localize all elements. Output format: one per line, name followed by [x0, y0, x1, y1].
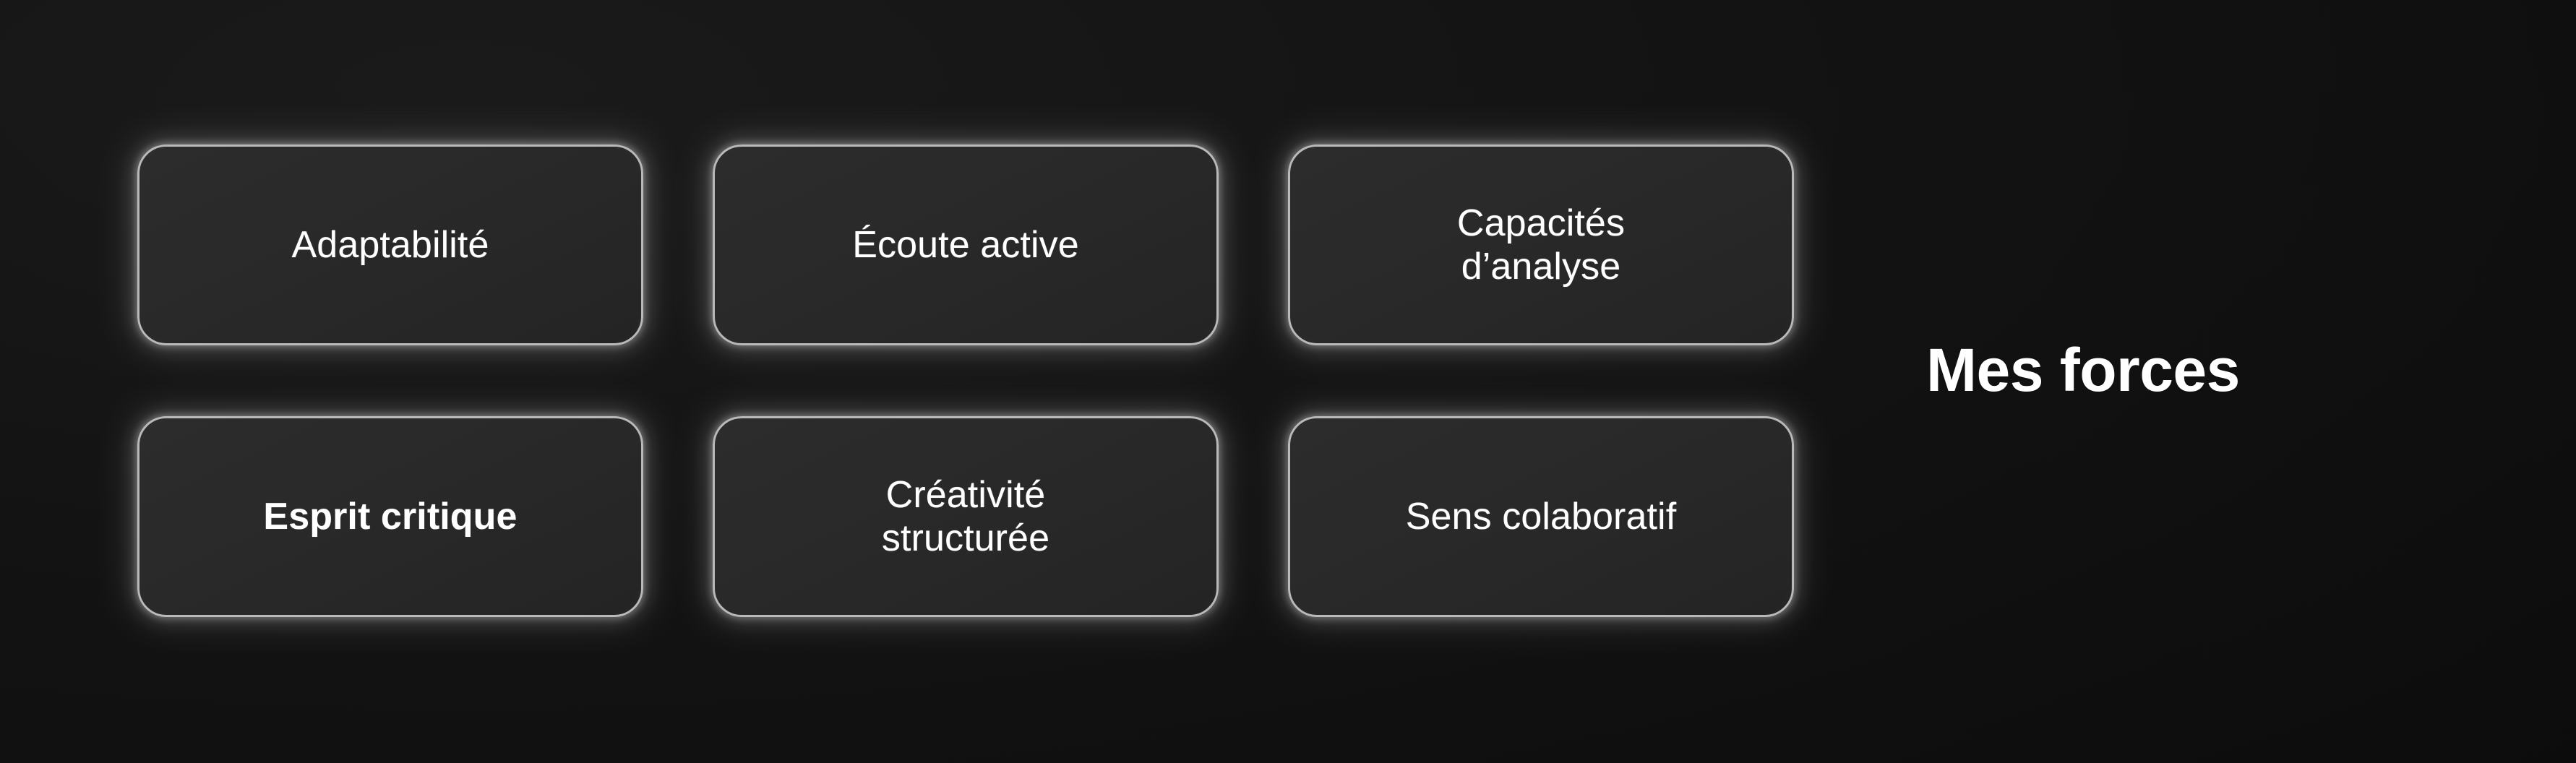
strength-card-label: Créativité structurée [864, 473, 1067, 561]
strength-card-label: Esprit critique [246, 495, 534, 538]
strengths-card-grid: Adaptabilité Écoute active Capacités d’a… [137, 145, 1794, 617]
strength-card-label: Capacités d’analyse [1440, 202, 1642, 289]
strength-card-ecoute-active[interactable]: Écoute active [713, 145, 1219, 345]
strength-card-capacites-danalyse[interactable]: Capacités d’analyse [1288, 145, 1794, 345]
strength-card-creativite-structuree[interactable]: Créativité structurée [713, 416, 1219, 617]
strength-card-label: Écoute active [835, 223, 1096, 267]
strength-card-label: Adaptabilité [275, 223, 507, 267]
strength-card-adaptabilite[interactable]: Adaptabilité [137, 145, 643, 345]
strength-card-sens-colaboratif[interactable]: Sens colaboratif [1288, 416, 1794, 617]
strength-card-label: Sens colaboratif [1388, 495, 1694, 538]
section-title: Mes forces [1926, 340, 2240, 400]
strength-card-esprit-critique[interactable]: Esprit critique [137, 416, 643, 617]
